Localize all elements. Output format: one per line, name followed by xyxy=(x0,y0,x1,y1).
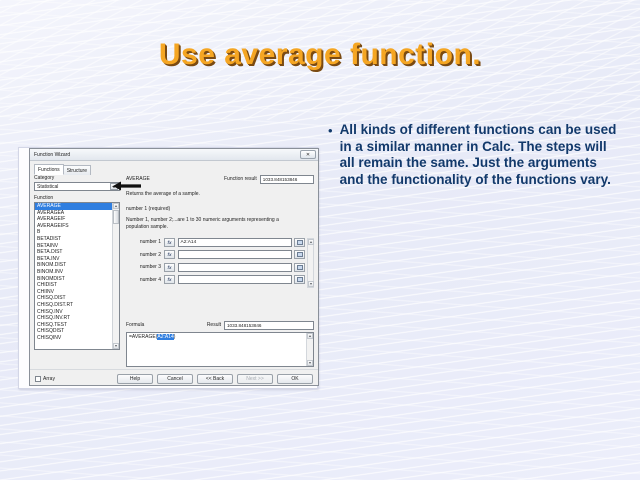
argument-input[interactable] xyxy=(178,275,292,284)
chevron-down-icon[interactable] xyxy=(110,183,118,190)
formula-label: Formula xyxy=(126,322,207,328)
formula-input[interactable]: =AVERAGE(A2:A14) xyxy=(126,332,314,367)
function-list-item[interactable]: CHISQDIST xyxy=(35,328,112,335)
function-name: AVERAGE xyxy=(126,176,224,182)
function-list-item[interactable]: CHISQINV xyxy=(35,335,112,342)
argument-row: number 3fx xyxy=(126,263,305,272)
shrink-range-select-icon[interactable] xyxy=(294,238,305,247)
dialog-title: Function Wizard xyxy=(34,152,300,158)
function-list-item[interactable]: AVERAGE xyxy=(35,203,112,210)
formula-area: Formula Result 1033.848153846 =AVERAGE(A… xyxy=(126,321,314,367)
fx-function-icon[interactable]: fx xyxy=(164,275,175,284)
help-button[interactable]: Help xyxy=(117,374,153,384)
argument-row: number 2fx xyxy=(126,250,305,259)
fx-function-icon[interactable]: fx xyxy=(164,263,175,272)
function-list-label: Function xyxy=(34,195,120,201)
left-panel: Category Statistical Function AVERAGEAVE… xyxy=(34,175,120,350)
shrink-range-select-icon[interactable] xyxy=(294,263,305,272)
dialog-tabs: Functions Structure xyxy=(34,164,90,175)
function-list-item[interactable]: CHISQ.INV.RT xyxy=(35,315,112,322)
scroll-down-icon[interactable] xyxy=(113,343,119,349)
dialog-body: Functions Structure Category Statistical… xyxy=(30,161,318,386)
function-list-item[interactable]: CHISQ.DIST.RT xyxy=(35,302,112,309)
function-list-item[interactable]: CHIINV xyxy=(35,289,112,296)
list-item: • All kinds of different functions can b… xyxy=(328,122,620,188)
tab-structure[interactable]: Structure xyxy=(63,165,91,175)
function-result-field: 1033.848153846 xyxy=(260,175,314,184)
bullet-marker-icon: • xyxy=(328,122,333,139)
function-list-items: AVERAGEAVERAGEAAVERAGEIFAVERAGEIFSBBETAD… xyxy=(35,203,112,349)
arguments-scrollbar[interactable] xyxy=(307,238,314,288)
argument-label: number 4 xyxy=(126,277,164,283)
fx-function-icon[interactable]: fx xyxy=(164,238,175,247)
result-label: Result xyxy=(207,322,221,328)
function-list-item[interactable]: BETA.DIST xyxy=(35,249,112,256)
argument-row: number 1fxA2:A14 xyxy=(126,238,305,247)
close-icon[interactable]: ✕ xyxy=(300,150,316,159)
scroll-up-icon[interactable] xyxy=(113,203,119,209)
function-list-item[interactable]: AVERAGEIF xyxy=(35,216,112,223)
scroll-down-icon[interactable] xyxy=(308,281,314,287)
right-panel: AVERAGE Function result 1033.848153846 R… xyxy=(126,175,314,288)
function-list-item[interactable]: BINOMDIST xyxy=(35,276,112,283)
argument-rows: number 1fxA2:A14number 2fxnumber 3fxnumb… xyxy=(126,238,305,288)
argument-row: number 4fx xyxy=(126,275,305,284)
formula-prefix: =AVERAGE( xyxy=(129,334,157,340)
function-list-item[interactable]: BETA.INV xyxy=(35,256,112,263)
function-list-item[interactable]: CHISQ.DIST xyxy=(35,295,112,302)
array-label: Array xyxy=(43,376,55,382)
shrink-range-select-icon[interactable] xyxy=(294,250,305,259)
function-list-item[interactable]: AVERAGEIFS xyxy=(35,223,112,230)
scroll-up-icon[interactable] xyxy=(308,239,314,245)
next-button: Next >> xyxy=(237,374,273,384)
scroll-up-icon[interactable] xyxy=(307,333,313,339)
argument-input[interactable] xyxy=(178,250,292,259)
formula-suffix: ) xyxy=(174,334,176,340)
function-listbox[interactable]: AVERAGEAVERAGEAAVERAGEIFAVERAGEIFSBBETAD… xyxy=(34,202,120,350)
argument-label: number 3 xyxy=(126,264,164,270)
tab-functions[interactable]: Functions xyxy=(34,164,64,175)
category-value: Statistical xyxy=(37,184,110,190)
argument-label: number 1 xyxy=(126,239,164,245)
function-list-item[interactable]: AVERAGEA xyxy=(35,210,112,217)
array-checkbox-group[interactable]: Array xyxy=(35,376,55,382)
function-list-item[interactable]: B xyxy=(35,229,112,236)
function-list-item[interactable]: BETADIST xyxy=(35,236,112,243)
function-description: Returns the average of a sample. xyxy=(126,191,314,197)
back-button[interactable]: << Back xyxy=(197,374,233,384)
cancel-button[interactable]: Cancel xyxy=(157,374,193,384)
function-header: AVERAGE Function result 1033.848153846 xyxy=(126,175,314,184)
result-field: 1033.848153846 xyxy=(224,321,314,330)
category-label: Category xyxy=(34,175,120,181)
function-list-item[interactable]: BINOM.DIST xyxy=(35,262,112,269)
formula-header: Formula Result 1033.848153846 xyxy=(126,321,314,330)
argument-input[interactable] xyxy=(178,263,292,272)
function-list-item[interactable]: BETAINV xyxy=(35,243,112,250)
argument-title: number 1 (required) xyxy=(126,206,314,212)
function-list-scrollbar[interactable] xyxy=(112,203,119,349)
function-list-item[interactable]: CHISQ.TEST xyxy=(35,322,112,329)
arguments-area: number 1fxA2:A14number 2fxnumber 3fxnumb… xyxy=(126,238,314,288)
fx-function-icon[interactable]: fx xyxy=(164,250,175,259)
function-list-item[interactable]: BINOM.INV xyxy=(35,269,112,276)
category-dropdown[interactable]: Statistical xyxy=(34,182,120,191)
function-wizard-dialog: Function Wizard ✕ Functions Structure Ca… xyxy=(29,148,319,386)
dialog-titlebar: Function Wizard ✕ xyxy=(30,149,318,161)
formula-scrollbar[interactable] xyxy=(306,333,313,366)
formula-selected-reference: A2:A14 xyxy=(157,334,173,340)
scrollbar-thumb[interactable] xyxy=(113,210,119,224)
argument-description: Number 1, number 2;...are 1 to 30 numeri… xyxy=(126,217,296,231)
argument-input[interactable]: A2:A14 xyxy=(178,238,292,247)
shrink-range-select-icon[interactable] xyxy=(294,275,305,284)
formula-text: =AVERAGE(A2:A14) xyxy=(127,333,306,366)
function-list-item[interactable]: CHISQ.INV xyxy=(35,309,112,316)
bullet-list: • All kinds of different functions can b… xyxy=(328,122,620,188)
array-checkbox[interactable] xyxy=(35,376,41,382)
page-title: Use average function. xyxy=(0,38,640,72)
dialog-footer: Array HelpCancel<< BackNext >>OK xyxy=(30,369,318,386)
bullet-text: All kinds of different functions can be … xyxy=(340,122,620,188)
function-list-item[interactable]: CHIDIST xyxy=(35,282,112,289)
scroll-down-icon[interactable] xyxy=(307,360,313,366)
dialog-button-row: HelpCancel<< BackNext >>OK xyxy=(117,374,313,384)
ok-button[interactable]: OK xyxy=(277,374,313,384)
function-result-label: Function result xyxy=(224,176,257,182)
argument-label: number 2 xyxy=(126,252,164,258)
presentation-slide: Use average function. • All kinds of dif… xyxy=(0,0,640,480)
